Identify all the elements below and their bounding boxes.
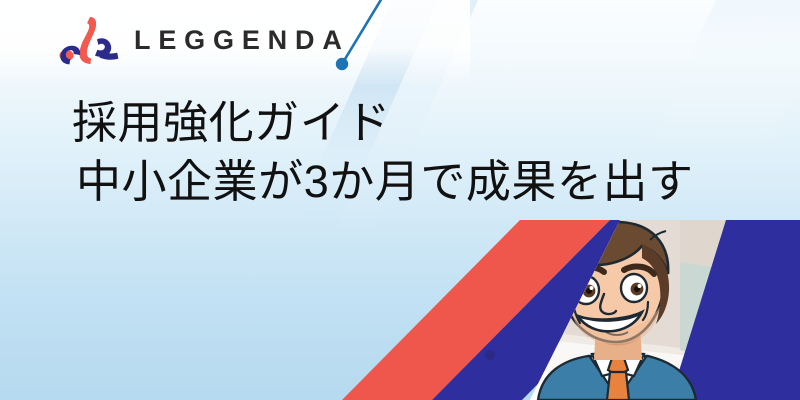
headline-line-1: 採用強化ガイド [72, 97, 391, 148]
businessman-illustration [530, 220, 800, 400]
leggenda-swirl-mark-icon [57, 14, 119, 66]
pin-line-icon [330, 0, 390, 76]
eye-left [573, 276, 599, 304]
eye-right [621, 274, 647, 302]
band-dot-accent [485, 350, 495, 360]
page-title: 採用強化ガイド 中小企業が3か月で成果を出す [72, 94, 694, 211]
promo-banner: LEGGENDA 採用強化ガイド 中小企業が3か月で成果を出す [0, 0, 800, 400]
headline-line-2: 中小企業が3か月で成果を出す [72, 153, 694, 212]
brand-logo[interactable]: LEGGENDA [57, 14, 350, 66]
brand-wordmark: LEGGENDA [134, 27, 350, 54]
